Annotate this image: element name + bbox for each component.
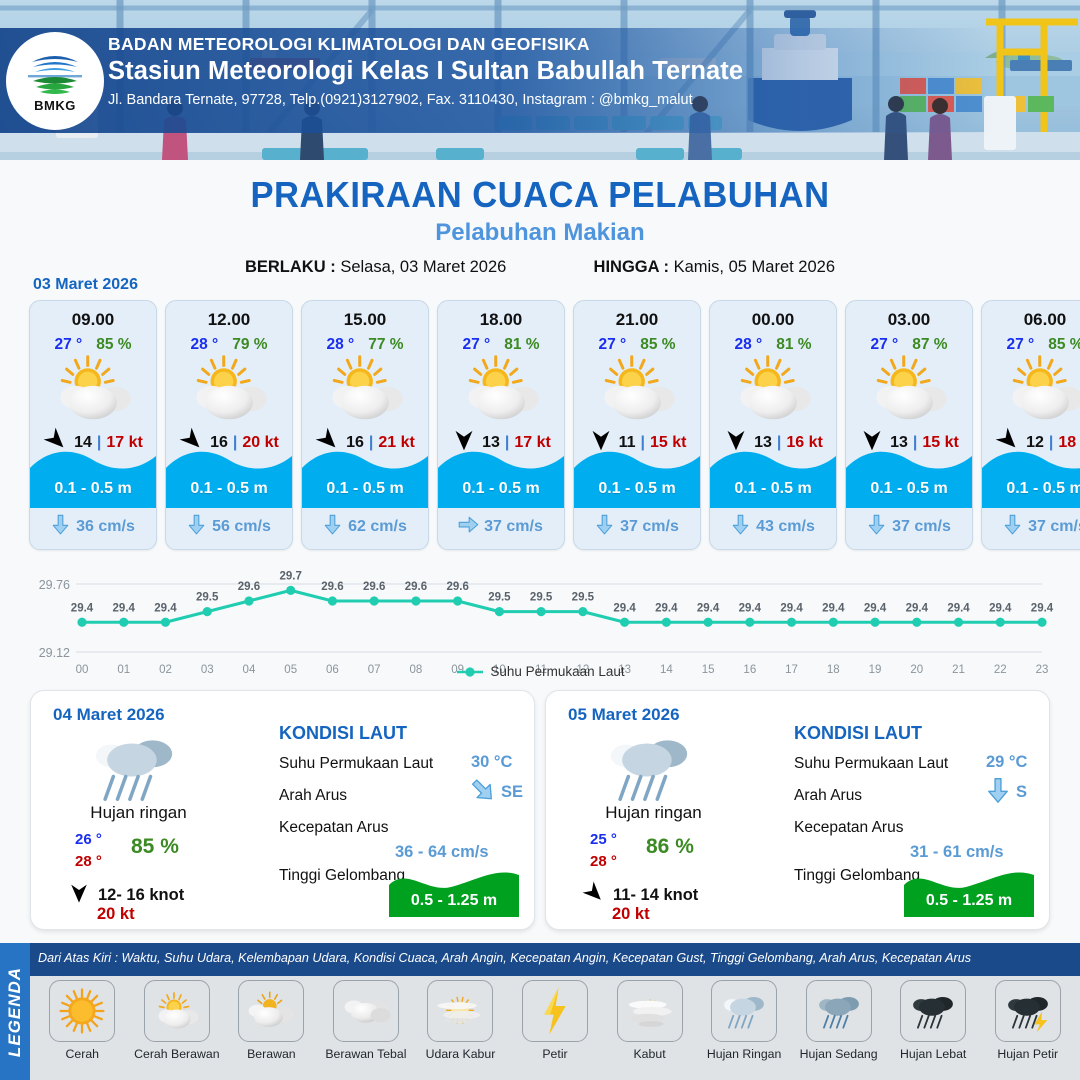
card-time: 15.00 xyxy=(302,310,428,330)
daily-temp-min: 26 ° xyxy=(75,831,102,848)
current-direction-label: Arah Arus xyxy=(279,787,347,805)
hujan-ringan-icon xyxy=(86,727,182,815)
station-contact: Jl. Bandara Ternate, 97728, Telp.(0921)3… xyxy=(108,92,743,108)
thunderstorm-rain-icon xyxy=(995,980,1061,1042)
svg-text:29.4: 29.4 xyxy=(780,602,803,614)
card-current-speed: 43 cm/s xyxy=(756,518,815,536)
chart-legend: Suhu Permukaan Laut xyxy=(0,664,1080,679)
card-time: 21.00 xyxy=(574,310,700,330)
wave-height-label: Tinggi Gelombang xyxy=(279,867,405,885)
arrow-south-icon xyxy=(986,777,1010,809)
svg-text:29.6: 29.6 xyxy=(321,581,343,593)
haze-icon xyxy=(427,980,493,1042)
legend-item-label: Hujan Ringan xyxy=(707,1047,782,1061)
card-time: 18.00 xyxy=(438,310,564,330)
sst-label: Suhu Permukaan Laut xyxy=(794,755,948,773)
legend-bar: LEGENDA Dari Atas Kiri : Waktu, Suhu Uda… xyxy=(0,943,1080,1080)
valid-from-value: Selasa, 03 Maret 2026 xyxy=(340,258,506,276)
card-wave-height: 0.1 - 0.5 m xyxy=(30,480,156,498)
card-current-speed: 37 cm/s xyxy=(1028,518,1080,536)
card-temperature: 27 ° xyxy=(54,336,82,354)
card-humidity: 87 % xyxy=(912,336,947,354)
sea-conditions-title: KONDISI LAUT xyxy=(794,723,922,744)
header-text-block: BADAN METEOROLOGI KLIMATOLOGI DAN GEOFIS… xyxy=(108,34,743,108)
sst-value: 30 °C xyxy=(471,753,512,772)
legend-item: Hujan Petir xyxy=(981,980,1074,1061)
card-temp-humidity: 27 ° 85 % xyxy=(982,336,1080,354)
card-temp-humidity: 27 ° 85 % xyxy=(30,336,156,354)
cerah-berawan-icon xyxy=(438,358,564,420)
daily-condition: Hujan ringan xyxy=(41,803,236,823)
legend-item: Hujan Ringan xyxy=(698,980,791,1061)
card-time: 06.00 xyxy=(982,310,1080,330)
cerah-berawan-icon xyxy=(846,358,972,420)
card-current-row: 56 cm/s xyxy=(166,514,292,540)
card-temp-humidity: 27 ° 81 % xyxy=(438,336,564,354)
hourly-card[interactable]: 15.00 28 ° 77 % xyxy=(301,300,429,550)
clouds-icon xyxy=(333,980,399,1042)
wave-height-badge: 0.5 - 1.25 m xyxy=(904,871,1034,917)
svg-text:29.5: 29.5 xyxy=(196,592,219,604)
daily-wind-gust: 20 kt xyxy=(97,905,135,924)
bmkg-logo: BMKG xyxy=(6,32,104,130)
card-wave-band: 0.1 - 0.5 m xyxy=(302,446,428,508)
bmkg-logo-glyph xyxy=(24,49,86,97)
legend-item-label: Hujan Sedang xyxy=(800,1047,878,1061)
valid-until-value: Kamis, 05 Maret 2026 xyxy=(674,258,835,276)
card-current-row: 37 cm/s xyxy=(982,514,1080,540)
svg-text:29.4: 29.4 xyxy=(822,602,845,614)
svg-text:29.4: 29.4 xyxy=(1031,602,1054,614)
hourly-card[interactable]: 00.00 28 ° 81 % xyxy=(709,300,837,550)
svg-text:29.6: 29.6 xyxy=(446,581,468,593)
daily-humidity: 85 % xyxy=(131,835,179,859)
card-current-speed: 37 cm/s xyxy=(892,518,951,536)
hourly-card[interactable]: 06.00 27 ° 85 % xyxy=(981,300,1080,550)
daily-forecast-panel[interactable]: 05 Maret 2026 Hujan ringan 25 ° 28 ° 86 … xyxy=(545,690,1050,930)
legend-item: Hujan Sedang xyxy=(792,980,885,1061)
legend-caption: Dari Atas Kiri : Waktu, Suhu Udara, Kele… xyxy=(38,951,1074,965)
current-direction-icon xyxy=(1003,514,1022,540)
daily-temp-max: 28 ° xyxy=(75,853,102,870)
svg-text:29.4: 29.4 xyxy=(655,602,678,614)
card-wave-band: 0.1 - 0.5 m xyxy=(982,446,1080,508)
card-wave-band: 0.1 - 0.5 m xyxy=(846,446,972,508)
moderate-rain-icon xyxy=(806,980,872,1042)
card-wave-band: 0.1 - 0.5 m xyxy=(30,446,156,508)
daily-temp-max: 28 ° xyxy=(590,853,617,870)
daily-date: 05 Maret 2026 xyxy=(568,705,680,725)
cerah-berawan-icon xyxy=(302,358,428,420)
card-temperature: 28 ° xyxy=(734,336,762,354)
legend-item: Cerah xyxy=(36,980,129,1061)
svg-text:29.5: 29.5 xyxy=(572,592,595,604)
agency-name: BADAN METEOROLOGI KLIMATOLOGI DAN GEOFIS… xyxy=(108,34,743,55)
legend-item-label: Udara Kabur xyxy=(426,1047,496,1061)
lightning-icon xyxy=(522,980,588,1042)
wave-height-value: 0.5 - 1.25 m xyxy=(389,892,519,910)
svg-text:29.4: 29.4 xyxy=(864,602,887,614)
current-speed-label: Kecepatan Arus xyxy=(279,819,388,837)
card-wave-band: 0.1 - 0.5 m xyxy=(166,446,292,508)
card-humidity: 77 % xyxy=(368,336,403,354)
card-wave-height: 0.1 - 0.5 m xyxy=(982,480,1080,498)
sst-value: 29 °C xyxy=(986,753,1027,772)
sun-icon xyxy=(49,980,115,1042)
hourly-card[interactable]: 09.00 27 ° 85 % xyxy=(29,300,157,550)
legend-item-label: Berawan xyxy=(247,1047,296,1061)
hourly-card[interactable]: 12.00 28 ° 79 % xyxy=(165,300,293,550)
current-direction-icon xyxy=(595,514,614,540)
card-current-speed: 37 cm/s xyxy=(484,518,543,536)
current-direction-label: Arah Arus xyxy=(794,787,862,805)
legend-vertical-strip: LEGENDA xyxy=(0,943,30,1080)
current-direction-icon xyxy=(187,514,206,540)
legend-item-label: Hujan Lebat xyxy=(900,1047,966,1061)
cerah-berawan-icon xyxy=(30,358,156,420)
daily-condition: Hujan ringan xyxy=(556,803,751,823)
arrow-southeast-icon xyxy=(471,777,495,809)
svg-text:29.5: 29.5 xyxy=(530,592,553,604)
card-current-speed: 62 cm/s xyxy=(348,518,407,536)
card-current-row: 36 cm/s xyxy=(30,514,156,540)
card-current-speed: 36 cm/s xyxy=(76,518,135,536)
card-wave-band: 0.1 - 0.5 m xyxy=(710,446,836,508)
hujan-ringan-icon xyxy=(601,727,697,815)
svg-text:29.7: 29.7 xyxy=(280,570,302,582)
legend-icon-row: Cerah Cerah Berawan xyxy=(30,976,1080,1080)
legend-item: Kabut xyxy=(603,980,696,1061)
card-humidity: 85 % xyxy=(96,336,131,354)
card-time: 03.00 xyxy=(846,310,972,330)
wind-direction-icon xyxy=(67,881,91,910)
title-block: PRAKIRAAN CUACA PELABUHAN Pelabuhan Maki… xyxy=(0,160,1080,277)
cerah-berawan-icon xyxy=(982,358,1080,420)
card-current-row: 37 cm/s xyxy=(846,514,972,540)
legend-item-label: Cerah xyxy=(66,1047,100,1061)
card-humidity: 85 % xyxy=(1048,336,1080,354)
card-temperature: 28 ° xyxy=(326,336,354,354)
current-direction-icon xyxy=(731,514,750,540)
daily-forecast-row: 04 Maret 2026 Hujan ringan 26 ° 28 ° 85 … xyxy=(30,690,1050,930)
card-current-row: 43 cm/s xyxy=(710,514,836,540)
card-temp-humidity: 28 ° 81 % xyxy=(710,336,836,354)
daily-forecast-panel[interactable]: 04 Maret 2026 Hujan ringan 26 ° 28 ° 85 … xyxy=(30,690,535,930)
card-time: 12.00 xyxy=(166,310,292,330)
sst-label: Suhu Permukaan Laut xyxy=(279,755,433,773)
wind-direction-icon xyxy=(582,881,606,910)
svg-text:29.4: 29.4 xyxy=(989,602,1012,614)
station-name: Stasiun Meteorologi Kelas I Sultan Babul… xyxy=(108,57,743,86)
wave-height-badge: 0.5 - 1.25 m xyxy=(389,871,519,917)
svg-text:29.4: 29.4 xyxy=(113,602,136,614)
heavy-rain-icon xyxy=(900,980,966,1042)
svg-text:29.4: 29.4 xyxy=(739,602,762,614)
current-speed-value: 31 - 61 cm/s xyxy=(910,843,1004,862)
daily-wind-gust: 20 kt xyxy=(612,905,650,924)
current-direction-icon xyxy=(323,514,342,540)
card-current-speed: 56 cm/s xyxy=(212,518,271,536)
legend-item-label: Petir xyxy=(542,1047,567,1061)
svg-text:29.76: 29.76 xyxy=(39,578,70,592)
chart-legend-swatch-icon xyxy=(455,666,485,678)
sun-cloud-icon xyxy=(144,980,210,1042)
card-humidity: 81 % xyxy=(776,336,811,354)
legend-vertical-title: LEGENDA xyxy=(5,966,25,1056)
sea-conditions-title: KONDISI LAUT xyxy=(279,723,407,744)
fog-icon xyxy=(617,980,683,1042)
card-wave-band: 0.1 - 0.5 m xyxy=(574,446,700,508)
valid-until-label: HINGGA : xyxy=(594,258,669,276)
light-rain-icon xyxy=(711,980,777,1042)
svg-text:29.4: 29.4 xyxy=(906,602,929,614)
svg-text:29.6: 29.6 xyxy=(405,581,427,593)
legend-item-label: Cerah Berawan xyxy=(134,1047,219,1061)
card-temperature: 27 ° xyxy=(598,336,626,354)
daily-temp-min: 25 ° xyxy=(590,831,617,848)
cerah-berawan-icon xyxy=(166,358,292,420)
wave-height-label: Tinggi Gelombang xyxy=(794,867,920,885)
valid-from-label: BERLAKU : xyxy=(245,258,336,276)
svg-text:29.4: 29.4 xyxy=(71,602,94,614)
card-humidity: 85 % xyxy=(640,336,675,354)
card-wave-height: 0.1 - 0.5 m xyxy=(574,480,700,498)
card-temp-humidity: 27 ° 87 % xyxy=(846,336,972,354)
page-header: BMKG BADAN METEOROLOGI KLIMATOLOGI DAN G… xyxy=(0,0,1080,160)
cloud-sun-partial-icon xyxy=(238,980,304,1042)
hourly-card[interactable]: 18.00 27 ° 81 % xyxy=(437,300,565,550)
svg-text:29.4: 29.4 xyxy=(154,602,177,614)
hourly-forecast-row: 09.00 27 ° 85 % xyxy=(29,300,1080,550)
card-temperature: 27 ° xyxy=(870,336,898,354)
legend-item: Cerah Berawan xyxy=(131,980,224,1061)
page-title: PRAKIRAAN CUACA PELABUHAN xyxy=(22,174,1059,216)
daily-humidity: 86 % xyxy=(646,835,694,859)
port-name: Pelabuhan Makian xyxy=(0,219,1080,247)
card-temp-humidity: 28 ° 77 % xyxy=(302,336,428,354)
card-current-speed: 37 cm/s xyxy=(620,518,679,536)
daily-wind-speed: 12- 16 knot xyxy=(98,886,184,905)
svg-text:29.6: 29.6 xyxy=(238,581,260,593)
hourly-card[interactable]: 21.00 27 ° 85 % xyxy=(573,300,701,550)
legend-item: Udara Kabur xyxy=(414,980,507,1061)
card-wave-band: 0.1 - 0.5 m xyxy=(438,446,564,508)
legend-item: Hujan Lebat xyxy=(887,980,980,1061)
card-wave-height: 0.1 - 0.5 m xyxy=(846,480,972,498)
current-speed-label: Kecepatan Arus xyxy=(794,819,903,837)
legend-item: Petir xyxy=(509,980,602,1061)
card-current-row: 37 cm/s xyxy=(574,514,700,540)
current-direction-icon xyxy=(51,514,70,540)
card-humidity: 79 % xyxy=(232,336,267,354)
current-speed-value: 36 - 64 cm/s xyxy=(395,843,489,862)
card-wave-height: 0.1 - 0.5 m xyxy=(710,480,836,498)
cerah-berawan-icon xyxy=(710,358,836,420)
card-humidity: 81 % xyxy=(504,336,539,354)
svg-text:29.4: 29.4 xyxy=(613,602,636,614)
card-time: 09.00 xyxy=(30,310,156,330)
card-current-row: 62 cm/s xyxy=(302,514,428,540)
daily-date: 04 Maret 2026 xyxy=(53,705,165,725)
validity-row: BERLAKU : Selasa, 03 Maret 2026 HINGGA :… xyxy=(0,258,1080,277)
card-temp-humidity: 28 ° 79 % xyxy=(166,336,292,354)
current-direction-icon xyxy=(867,514,886,540)
legend-item: Berawan Tebal xyxy=(320,980,413,1061)
card-current-row: 37 cm/s xyxy=(438,514,564,540)
card-wave-height: 0.1 - 0.5 m xyxy=(438,480,564,498)
daily-wind-speed: 11- 14 knot xyxy=(613,886,698,905)
svg-text:29.4: 29.4 xyxy=(697,602,720,614)
current-direction-icon xyxy=(459,514,478,540)
card-temperature: 27 ° xyxy=(462,336,490,354)
svg-text:29.4: 29.4 xyxy=(947,602,970,614)
card-time: 00.00 xyxy=(710,310,836,330)
legend-item-label: Kabut xyxy=(633,1047,665,1061)
current-direction-value: SE xyxy=(501,783,523,802)
card-wave-height: 0.1 - 0.5 m xyxy=(166,480,292,498)
legend-item-label: Berawan Tebal xyxy=(325,1047,406,1061)
current-direction-value: S xyxy=(1016,783,1027,802)
hourly-date-label: 03 Maret 2026 xyxy=(33,276,138,294)
card-temperature: 27 ° xyxy=(1006,336,1034,354)
wave-height-value: 0.5 - 1.25 m xyxy=(904,892,1034,910)
legend-item-label: Hujan Petir xyxy=(997,1047,1058,1061)
current-direction-group: S xyxy=(986,777,1027,809)
svg-text:29.12: 29.12 xyxy=(39,646,70,660)
svg-text:29.6: 29.6 xyxy=(363,581,385,593)
bmkg-logo-text: BMKG xyxy=(34,98,76,113)
svg-text:29.5: 29.5 xyxy=(488,592,511,604)
chart-legend-label: Suhu Permukaan Laut xyxy=(490,664,624,679)
cerah-berawan-icon xyxy=(574,358,700,420)
hourly-card[interactable]: 03.00 27 ° 87 % xyxy=(845,300,973,550)
current-direction-group: SE xyxy=(471,777,523,809)
card-temp-humidity: 27 ° 85 % xyxy=(574,336,700,354)
card-wave-height: 0.1 - 0.5 m xyxy=(302,480,428,498)
legend-item: Berawan xyxy=(225,980,318,1061)
card-temperature: 28 ° xyxy=(190,336,218,354)
